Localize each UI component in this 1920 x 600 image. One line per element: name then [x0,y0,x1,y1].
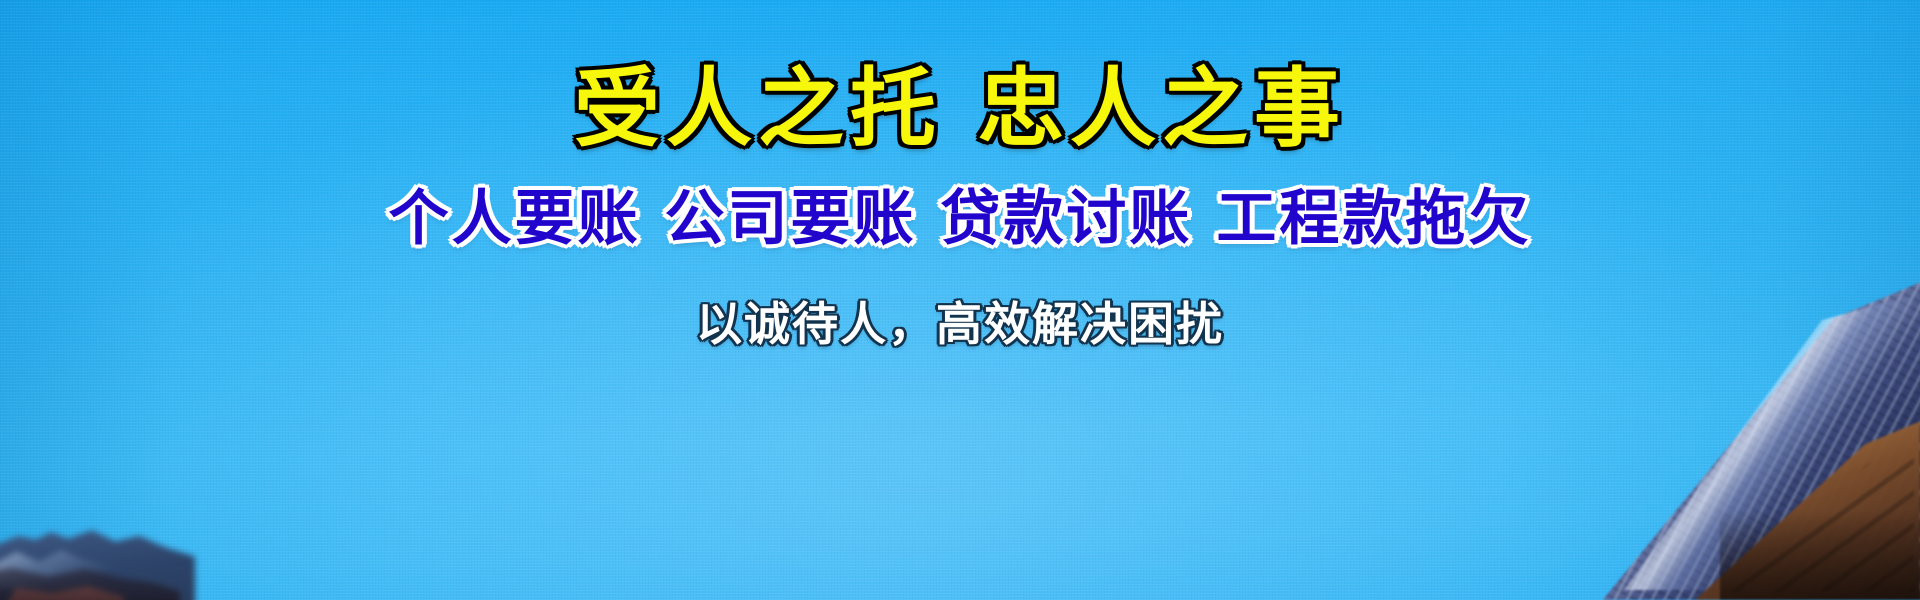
promotional-banner: 受人之托 忠人之事 个人要账 公司要账 贷款讨账 工程款拖欠 以诚待人，高效解决… [0,0,1920,600]
banner-services-line: 个人要账 公司要账 贷款讨账 工程款拖欠 [389,183,1532,255]
banner-headline: 受人之托 忠人之事 [574,58,1346,159]
banner-text-block: 受人之托 忠人之事 个人要账 公司要账 贷款讨账 工程款拖欠 以诚待人，高效解决… [0,0,1920,600]
banner-tagline: 以诚待人，高效解决困扰 [696,297,1224,352]
